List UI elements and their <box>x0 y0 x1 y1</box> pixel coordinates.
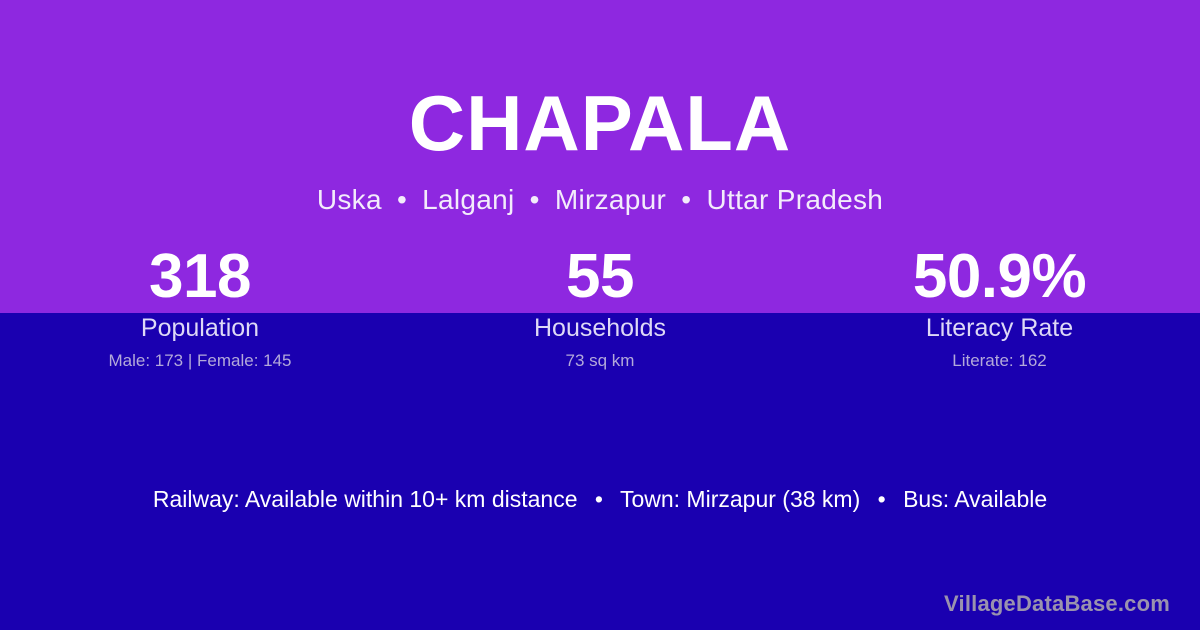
site-brand-watermark: VillageDataBase.com <box>944 593 1170 615</box>
stat-label-literacy-rate: Literacy Rate <box>800 315 1199 343</box>
location-separator-icon: • <box>390 184 414 215</box>
info-separator-icon: • <box>584 486 614 512</box>
location-separator-icon: • <box>523 184 547 215</box>
stat-sub-households: 73 sq km <box>400 352 800 371</box>
statistics-row: 318 Population Male: 173 | Female: 145 5… <box>0 245 1200 371</box>
stat-value-households: 55 <box>400 245 800 309</box>
info-town: Town: Mirzapur (38 km) <box>620 486 860 512</box>
location-breadcrumb: Uska • Lalganj • Mirzapur • Uttar Prades… <box>0 186 1200 214</box>
info-bus: Bus: Available <box>903 486 1047 512</box>
stat-literacy-rate: 50.9% Literacy Rate Literate: 162 <box>800 245 1200 371</box>
info-separator-icon: • <box>867 486 897 512</box>
stat-value-population: 318 <box>0 245 400 309</box>
location-part-tehsil: Lalganj <box>422 184 514 215</box>
stat-label-households: Households <box>400 315 800 343</box>
stat-label-population: Population <box>0 315 400 343</box>
location-part-state: Uttar Pradesh <box>706 184 883 215</box>
info-railway: Railway: Available within 10+ km distanc… <box>153 486 578 512</box>
village-info-card: CHAPALA Uska • Lalganj • Mirzapur • Utta… <box>0 0 1200 630</box>
card-header: CHAPALA Uska • Lalganj • Mirzapur • Utta… <box>0 0 1200 214</box>
location-part-district: Mirzapur <box>555 184 666 215</box>
transport-info-line: Railway: Available within 10+ km distanc… <box>0 486 1200 514</box>
stat-sub-population: Male: 173 | Female: 145 <box>0 352 400 371</box>
location-part-block: Uska <box>317 184 382 215</box>
stat-sub-literacy-rate: Literate: 162 <box>800 352 1199 371</box>
stat-value-literacy-rate: 50.9% <box>800 245 1199 309</box>
stat-population: 318 Population Male: 173 | Female: 145 <box>0 245 400 371</box>
location-separator-icon: • <box>674 184 698 215</box>
stat-households: 55 Households 73 sq km <box>400 245 800 371</box>
village-title: CHAPALA <box>0 84 1200 162</box>
